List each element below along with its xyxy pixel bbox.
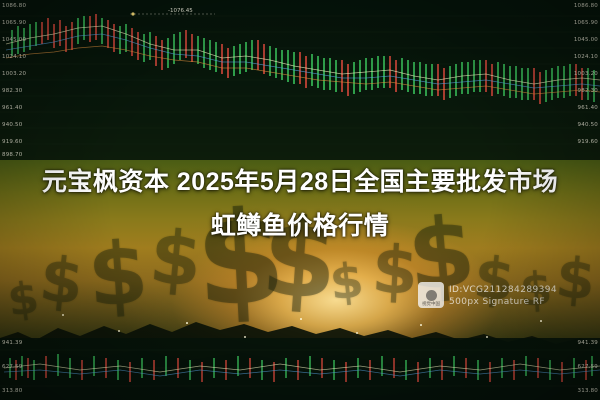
vignette-overlay [0,0,600,400]
screenshot-root: $ $ $ $ $ $ $ $ $ $ $ $ [0,0,600,400]
